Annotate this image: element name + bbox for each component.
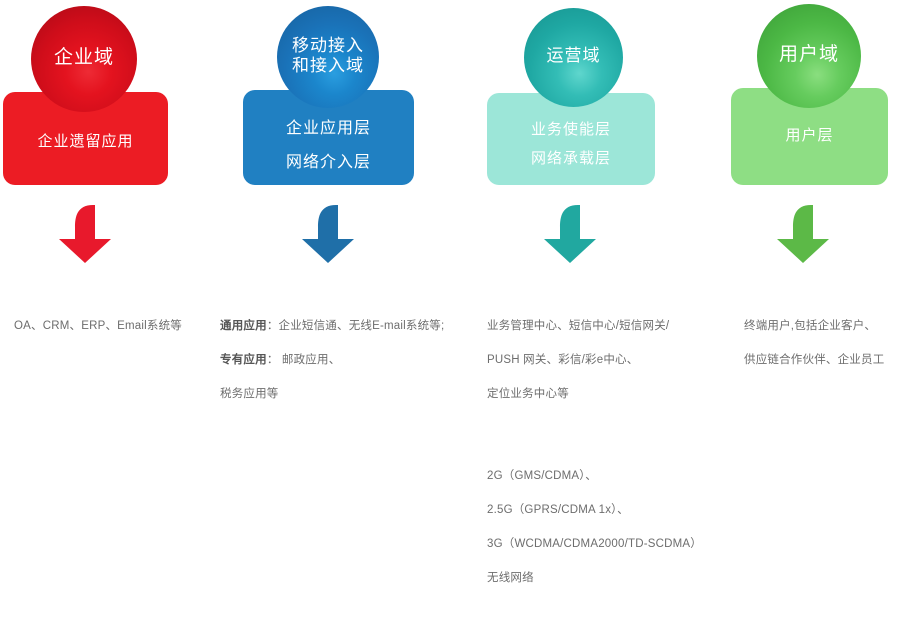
caption-block: OA、CRM、ERP、Email系统等 bbox=[14, 301, 214, 352]
circle-label: 运营域 bbox=[524, 46, 623, 68]
caption-block: 业务管理中心、短信中心/短信网关/ PUSH 网关、彩信/彩e中心、 定位业务中… bbox=[487, 301, 717, 420]
caption-line: OA、CRM、ERP、Email系统等 bbox=[14, 318, 214, 335]
circle-operation-domain[interactable]: 运营域 bbox=[524, 8, 623, 107]
panel-line: 网络承载层 bbox=[487, 147, 655, 168]
caption-strong: 通用应用 bbox=[220, 320, 267, 332]
arrow-down-green-icon bbox=[775, 203, 831, 270]
panel-line: 用户层 bbox=[731, 124, 888, 145]
architecture-diagram: 企业遗留应用 企业域 OA、CRM、ERP、Email系统等 企业应用层 网络介… bbox=[0, 0, 900, 404]
arrow-down-blue-icon bbox=[300, 203, 356, 270]
caption-line: 终端用户,包括企业客户、 bbox=[744, 318, 900, 335]
caption-line: 税务应用等 bbox=[220, 386, 470, 403]
caption-mobile-access-domain: 通用应用：企业短信通、无线E-mail系统等; 专有应用： 邮政应用、 税务应用… bbox=[220, 284, 470, 437]
circle-label: 移动接入 和接入域 bbox=[277, 36, 379, 78]
circle-mobile-access-domain[interactable]: 移动接入 和接入域 bbox=[277, 6, 379, 108]
caption-block: 通用应用：企业短信通、无线E-mail系统等; 专有应用： 邮政应用、 税务应用… bbox=[220, 301, 470, 420]
caption-user-domain: 终端用户,包括企业客户、 供应链合作伙伴、企业员工 bbox=[744, 284, 900, 403]
caption-block: 2G（GMS/CDMA）、 2.5G（GPRS/CDMA 1x）、 3G（WCD… bbox=[487, 451, 717, 604]
caption-line: 专有应用： 邮政应用、 bbox=[220, 352, 470, 369]
panel-line: 企业遗留应用 bbox=[3, 130, 168, 151]
arrow-down-red-icon bbox=[57, 203, 113, 270]
caption-line: PUSH 网关、彩信/彩e中心、 bbox=[487, 352, 717, 369]
caption-line: 无线网络 bbox=[487, 570, 717, 587]
caption-strong: 专有应用 bbox=[220, 354, 267, 366]
caption-line: 供应链合作伙伴、企业员工 bbox=[744, 352, 900, 369]
circle-enterprise-domain[interactable]: 企业域 bbox=[31, 6, 137, 112]
caption-suffix: ：企业短信通、无线E-mail系统等; bbox=[267, 320, 445, 332]
caption-line: 3G（WCDMA/CDMA2000/TD-SCDMA） bbox=[487, 536, 717, 553]
caption-line: 定位业务中心等 bbox=[487, 386, 717, 403]
circle-user-domain[interactable]: 用户域 bbox=[757, 4, 861, 108]
caption-block: 终端用户,包括企业客户、 供应链合作伙伴、企业员工 bbox=[744, 301, 900, 386]
circle-label: 企业域 bbox=[31, 47, 137, 71]
arrow-down-teal-icon bbox=[542, 203, 598, 270]
caption-line: 业务管理中心、短信中心/短信网关/ bbox=[487, 318, 717, 335]
caption-suffix: ： 邮政应用、 bbox=[267, 354, 341, 366]
caption-line: 2G（GMS/CDMA）、 bbox=[487, 468, 717, 485]
caption-line: 2.5G（GPRS/CDMA 1x）、 bbox=[487, 502, 717, 519]
caption-operation-domain: 业务管理中心、短信中心/短信网关/ PUSH 网关、彩信/彩e中心、 定位业务中… bbox=[487, 284, 717, 621]
caption-enterprise-domain: OA、CRM、ERP、Email系统等 bbox=[14, 284, 214, 369]
circle-label: 用户域 bbox=[757, 44, 861, 68]
panel-line: 企业应用层 bbox=[243, 114, 414, 138]
panel-line: 网络介入层 bbox=[243, 148, 414, 172]
caption-line: 通用应用：企业短信通、无线E-mail系统等; bbox=[220, 318, 470, 335]
panel-line: 业务使能层 bbox=[487, 118, 655, 139]
